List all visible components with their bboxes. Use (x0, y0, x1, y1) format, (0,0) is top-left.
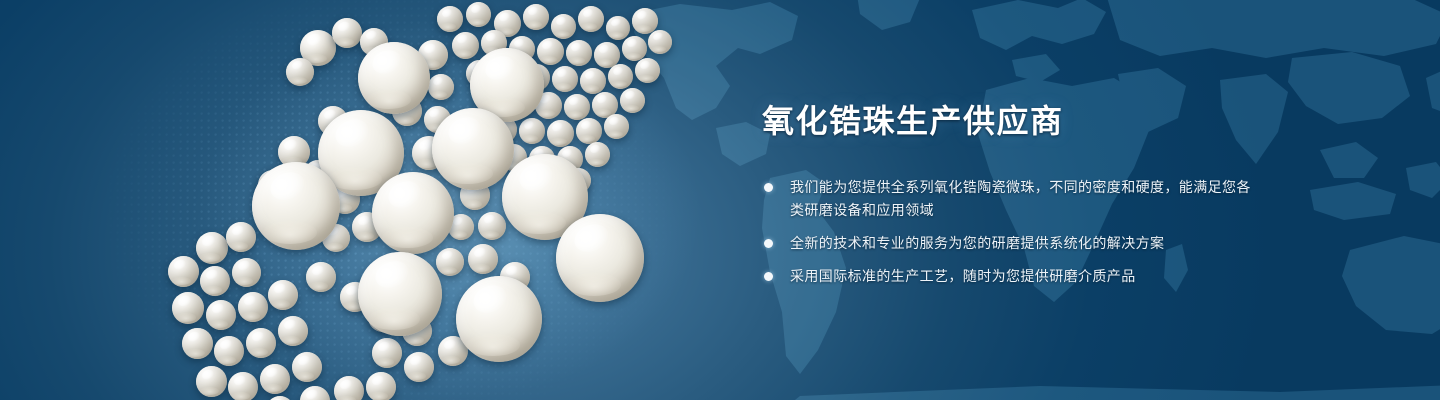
list-item: 全新的技术和专业的服务为您的研磨提供系统化的解决方案 (762, 232, 1262, 255)
list-item-label: 我们能为您提供全系列氧化锆陶瓷微珠，不同的密度和硬度，能满足您各类研磨设备和应用… (790, 176, 1262, 222)
list-item-label: 全新的技术和专业的服务为您的研磨提供系统化的解决方案 (790, 232, 1262, 255)
list-item: 我们能为您提供全系列氧化锆陶瓷微珠，不同的密度和硬度，能满足您各类研磨设备和应用… (762, 176, 1262, 222)
page-title: 氧化锆珠生产供应商 (762, 104, 1262, 140)
hero-banner: 氧化锆珠生产供应商 我们能为您提供全系列氧化锆陶瓷微珠，不同的密度和硬度，能满足… (0, 0, 1440, 400)
list-item: 采用国际标准的生产工艺，随时为您提供研磨介质产品 (762, 265, 1262, 288)
zirconia-bead-cluster-photo (0, 0, 720, 400)
bullet-dot-icon (764, 239, 773, 248)
feature-bullet-list: 我们能为您提供全系列氧化锆陶瓷微珠，不同的密度和硬度，能满足您各类研磨设备和应用… (762, 176, 1262, 288)
banner-copy: 氧化锆珠生产供应商 我们能为您提供全系列氧化锆陶瓷微珠，不同的密度和硬度，能满足… (762, 104, 1262, 288)
bullet-dot-icon (764, 183, 773, 192)
list-item-label: 采用国际标准的生产工艺，随时为您提供研磨介质产品 (790, 265, 1262, 288)
bullet-dot-icon (764, 272, 773, 281)
